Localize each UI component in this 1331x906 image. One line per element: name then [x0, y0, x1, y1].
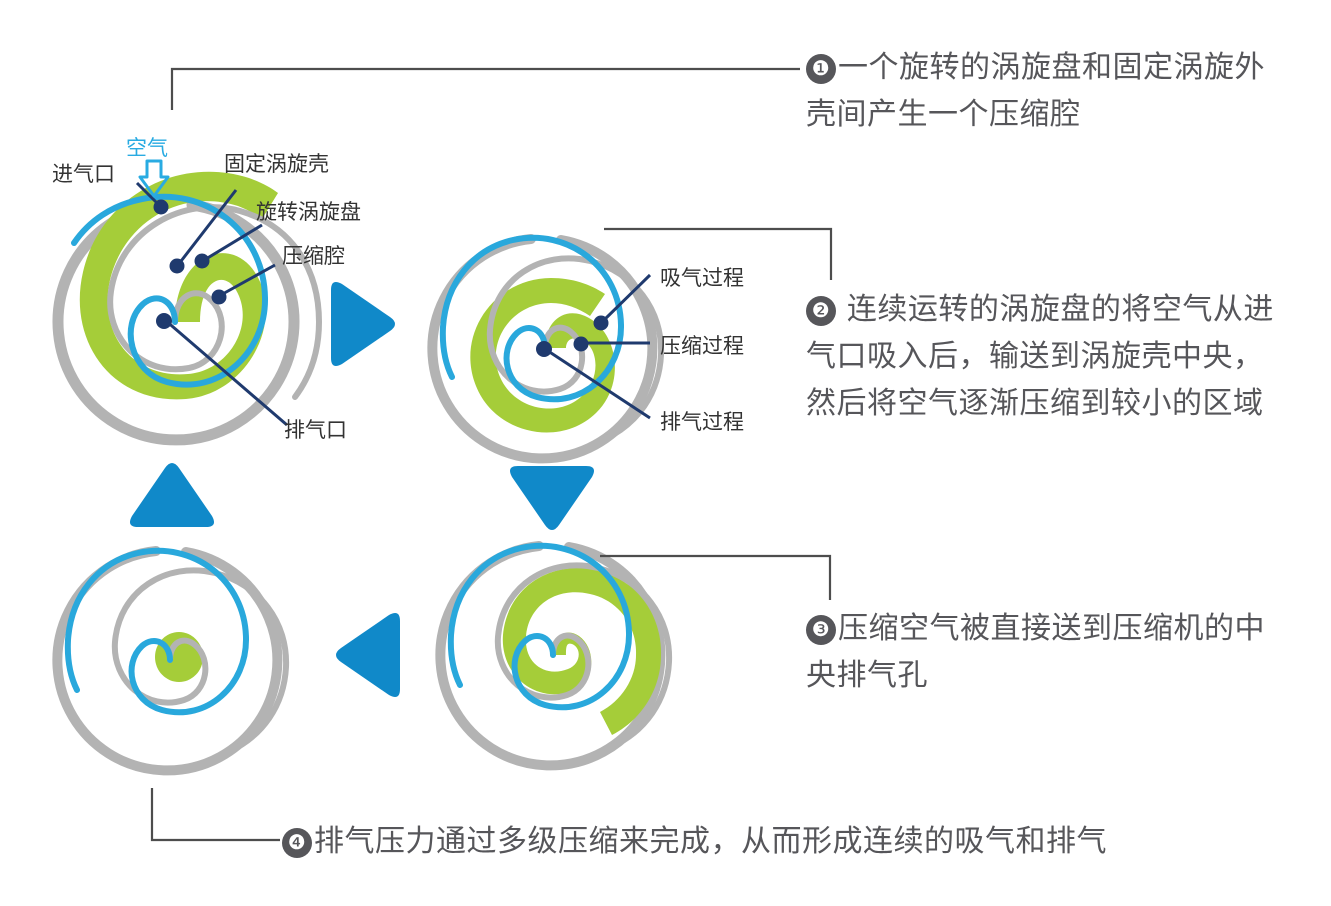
dot-discharge-process — [536, 341, 552, 357]
caption-step-1-text: 一个旋转的涡旋盘和固定涡旋外壳间产生一个压缩腔 — [806, 51, 1265, 131]
dot-compression-process — [574, 337, 589, 352]
label-inlet: 进气口 — [52, 158, 115, 188]
scroll-compressor-diagram: 进气口 空气 固定涡旋壳 旋转涡旋盘 压缩腔 排气口 吸气过程 压缩过程 排气过… — [0, 0, 1331, 906]
caption-step-3-text: 压缩空气被直接送到压缩机的中央排气孔 — [806, 612, 1265, 692]
connector-step-1 — [172, 69, 800, 110]
label-orbiting-scroll: 旋转涡旋盘 — [256, 196, 361, 226]
caption-step-2-text: 连续运转的涡旋盘的将空气从进气口吸入后，输送到涡旋壳中央，然后将空气逐渐压缩到较… — [806, 293, 1274, 420]
dot-compression-chamber — [212, 290, 227, 305]
caption-step-1: ❶一个旋转的涡旋盘和固定涡旋外壳间产生一个压缩腔 — [806, 44, 1276, 138]
arrow-left-icon — [336, 613, 400, 697]
arrow-down-icon — [510, 466, 594, 530]
label-compression-process: 压缩过程 — [660, 330, 744, 360]
label-fixed-scroll: 固定涡旋壳 — [224, 148, 329, 178]
dot-outlet — [156, 313, 172, 329]
arrow-up-icon — [130, 463, 214, 527]
caption-step-4-text: 排气压力通过多级压缩来完成，从而形成连续的吸气和排气 — [314, 825, 1107, 858]
step-number-2: ❷ — [806, 296, 836, 326]
dot-orbiting-scroll — [195, 254, 210, 269]
connector-step-4 — [152, 788, 280, 840]
compression-chamber-3 — [503, 568, 661, 735]
stage-4-scroll — [57, 551, 286, 771]
stage-3-scroll — [440, 546, 669, 766]
step-number-3: ❸ — [806, 615, 836, 645]
caption-step-4: ❹排气压力通过多级压缩来完成，从而形成连续的吸气和排气 — [282, 822, 1282, 862]
label-suction-process: 吸气过程 — [660, 262, 744, 292]
dot-fixed-scroll — [170, 259, 185, 274]
caption-step-3: ❸压缩空气被直接送到压缩机的中央排气孔 — [806, 605, 1276, 699]
label-outlet: 排气口 — [284, 414, 347, 444]
caption-step-2: ❷ 连续运转的涡旋盘的将空气从进气口吸入后，输送到涡旋壳中央，然后将空气逐渐压缩… — [806, 286, 1276, 427]
dot-inlet — [154, 200, 169, 215]
label-compression-chamber: 压缩腔 — [282, 240, 345, 270]
label-air: 空气 — [126, 132, 168, 162]
label-discharge-process: 排气过程 — [660, 406, 744, 436]
dot-suction-process — [594, 316, 609, 331]
step-number-4: ❹ — [282, 828, 312, 858]
stage-2-scroll — [432, 238, 661, 459]
arrow-right-icon — [331, 282, 395, 366]
orbiting-scroll-wall-4 — [68, 551, 246, 712]
step-number-1: ❶ — [806, 54, 836, 84]
